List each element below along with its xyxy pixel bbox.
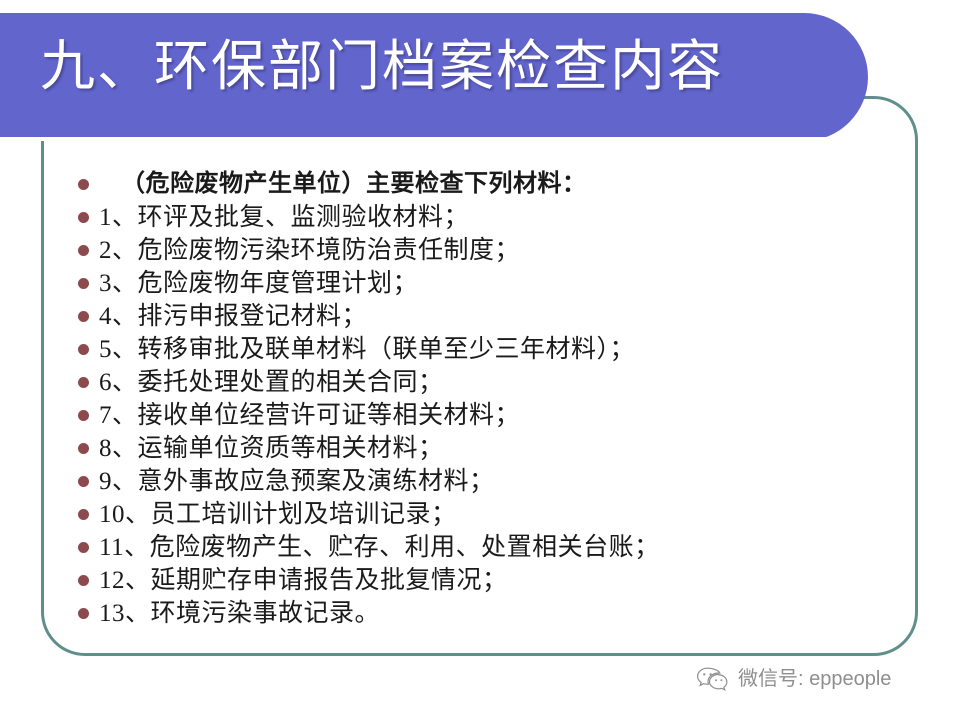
list-item: 4、排污申报登记材料； bbox=[70, 300, 900, 333]
bullet-dot-icon bbox=[78, 278, 89, 289]
list-item-label: 10、员工培训计划及培训记录； bbox=[99, 498, 900, 531]
list-item-label: 7、接收单位经营许可证等相关材料； bbox=[99, 399, 900, 432]
bullet-dot-icon bbox=[78, 509, 89, 520]
list-item-label: 9、意外事故应急预案及演练材料； bbox=[99, 465, 900, 498]
list-item-label: 1、环评及批复、监测验收材料； bbox=[99, 201, 900, 234]
list-item: 6、委托处理处置的相关合同； bbox=[70, 366, 900, 399]
list-item: 5、转移审批及联单材料（联单至少三年材料）； bbox=[70, 333, 900, 366]
bullet-dot-icon bbox=[78, 410, 89, 421]
list-item-label: 12、延期贮存申请报告及批复情况； bbox=[99, 564, 900, 597]
bullet-dot-icon bbox=[78, 608, 89, 619]
bullet-dot-icon bbox=[78, 476, 89, 487]
list-item: 1、环评及批复、监测验收材料； bbox=[70, 201, 900, 234]
list-item: （危险废物产生单位）主要检查下列材料： bbox=[70, 168, 900, 201]
title-underline bbox=[0, 137, 848, 141]
bullet-dot-icon bbox=[78, 344, 89, 355]
list-item-label: 6、委托处理处置的相关合同； bbox=[99, 366, 900, 399]
list-item-label: （危险废物产生单位）主要检查下列材料： bbox=[99, 168, 900, 201]
list-item: 8、运输单位资质等相关材料； bbox=[70, 432, 900, 465]
bullet-list: （危险废物产生单位）主要检查下列材料：1、环评及批复、监测验收材料；2、危险废物… bbox=[70, 168, 900, 630]
list-item: 7、接收单位经营许可证等相关材料； bbox=[70, 399, 900, 432]
list-item: 2、危险废物污染环境防治责任制度； bbox=[70, 234, 900, 267]
list-item-label: 2、危险废物污染环境防治责任制度； bbox=[99, 234, 900, 267]
list-item-label: 8、运输单位资质等相关材料； bbox=[99, 432, 900, 465]
slide-canvas: 九、环保部门档案检查内容 （危险废物产生单位）主要检查下列材料：1、环评及批复、… bbox=[0, 0, 960, 720]
list-item: 9、意外事故应急预案及演练材料； bbox=[70, 465, 900, 498]
list-item: 12、延期贮存申请报告及批复情况； bbox=[70, 564, 900, 597]
bullet-dot-icon bbox=[78, 377, 89, 388]
list-item-label: 13、环境污染事故记录。 bbox=[99, 597, 900, 630]
bullet-dot-icon bbox=[78, 311, 89, 322]
bullet-dot-icon bbox=[78, 443, 89, 454]
watermark: 微信号: eppeople bbox=[696, 666, 891, 692]
bullet-dot-icon bbox=[78, 179, 89, 190]
list-item: 3、危险废物年度管理计划； bbox=[70, 267, 900, 300]
page-title: 九、环保部门档案检查内容 bbox=[40, 24, 840, 110]
bullet-dot-icon bbox=[78, 245, 89, 256]
list-item-label: 5、转移审批及联单材料（联单至少三年材料）； bbox=[99, 333, 900, 366]
list-item-label: 4、排污申报登记材料； bbox=[99, 300, 900, 333]
list-item: 13、环境污染事故记录。 bbox=[70, 597, 900, 630]
list-item-label: 3、危险废物年度管理计划； bbox=[99, 267, 900, 300]
bullet-dot-icon bbox=[78, 575, 89, 586]
bullet-dot-icon bbox=[78, 542, 89, 553]
watermark-text: 微信号: eppeople bbox=[738, 666, 891, 692]
list-item-label: 11、危险废物产生、贮存、利用、处置相关台账； bbox=[99, 531, 900, 564]
bullet-dot-icon bbox=[78, 212, 89, 223]
wechat-icon bbox=[696, 666, 730, 692]
list-item: 10、员工培训计划及培训记录； bbox=[70, 498, 900, 531]
list-item: 11、危险废物产生、贮存、利用、处置相关台账； bbox=[70, 531, 900, 564]
